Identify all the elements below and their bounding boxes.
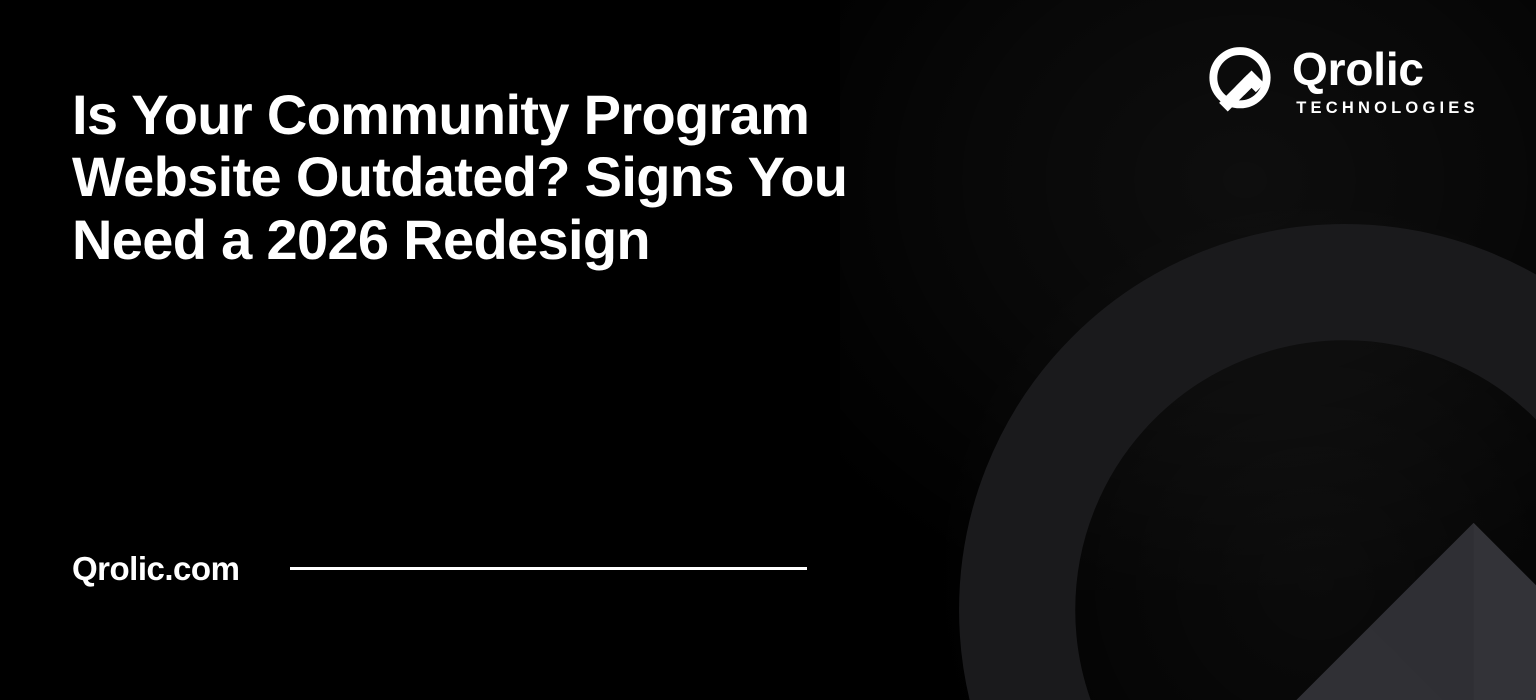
- headline-line-3: Need a 2026 Redesign: [72, 209, 1002, 271]
- brand-watermark: [930, 195, 1536, 700]
- banner-canvas: Qrolic TECHNOLOGIES Is Your Community Pr…: [0, 0, 1536, 700]
- site-url[interactable]: Qrolic.com: [72, 552, 239, 585]
- brand-name: Qrolic: [1292, 47, 1479, 91]
- qrolic-logo-icon: [1204, 44, 1276, 120]
- background-glow-bottom-right: [936, 200, 1536, 700]
- footer-divider-rule: [290, 567, 807, 570]
- brand-subtitle: TECHNOLOGIES: [1292, 100, 1479, 117]
- footer: Qrolic.com: [72, 552, 832, 585]
- brand-lockup: Qrolic TECHNOLOGIES: [1204, 44, 1479, 120]
- headline: Is Your Community Program Website Outdat…: [72, 84, 1002, 271]
- brand-text-block: Qrolic TECHNOLOGIES: [1292, 47, 1479, 117]
- watermark-arrow-icon: [1187, 523, 1536, 700]
- headline-line-1: Is Your Community Program: [72, 84, 1002, 146]
- watermark-ring-icon: [1017, 282, 1536, 700]
- headline-line-2: Website Outdated? Signs You: [72, 146, 1002, 208]
